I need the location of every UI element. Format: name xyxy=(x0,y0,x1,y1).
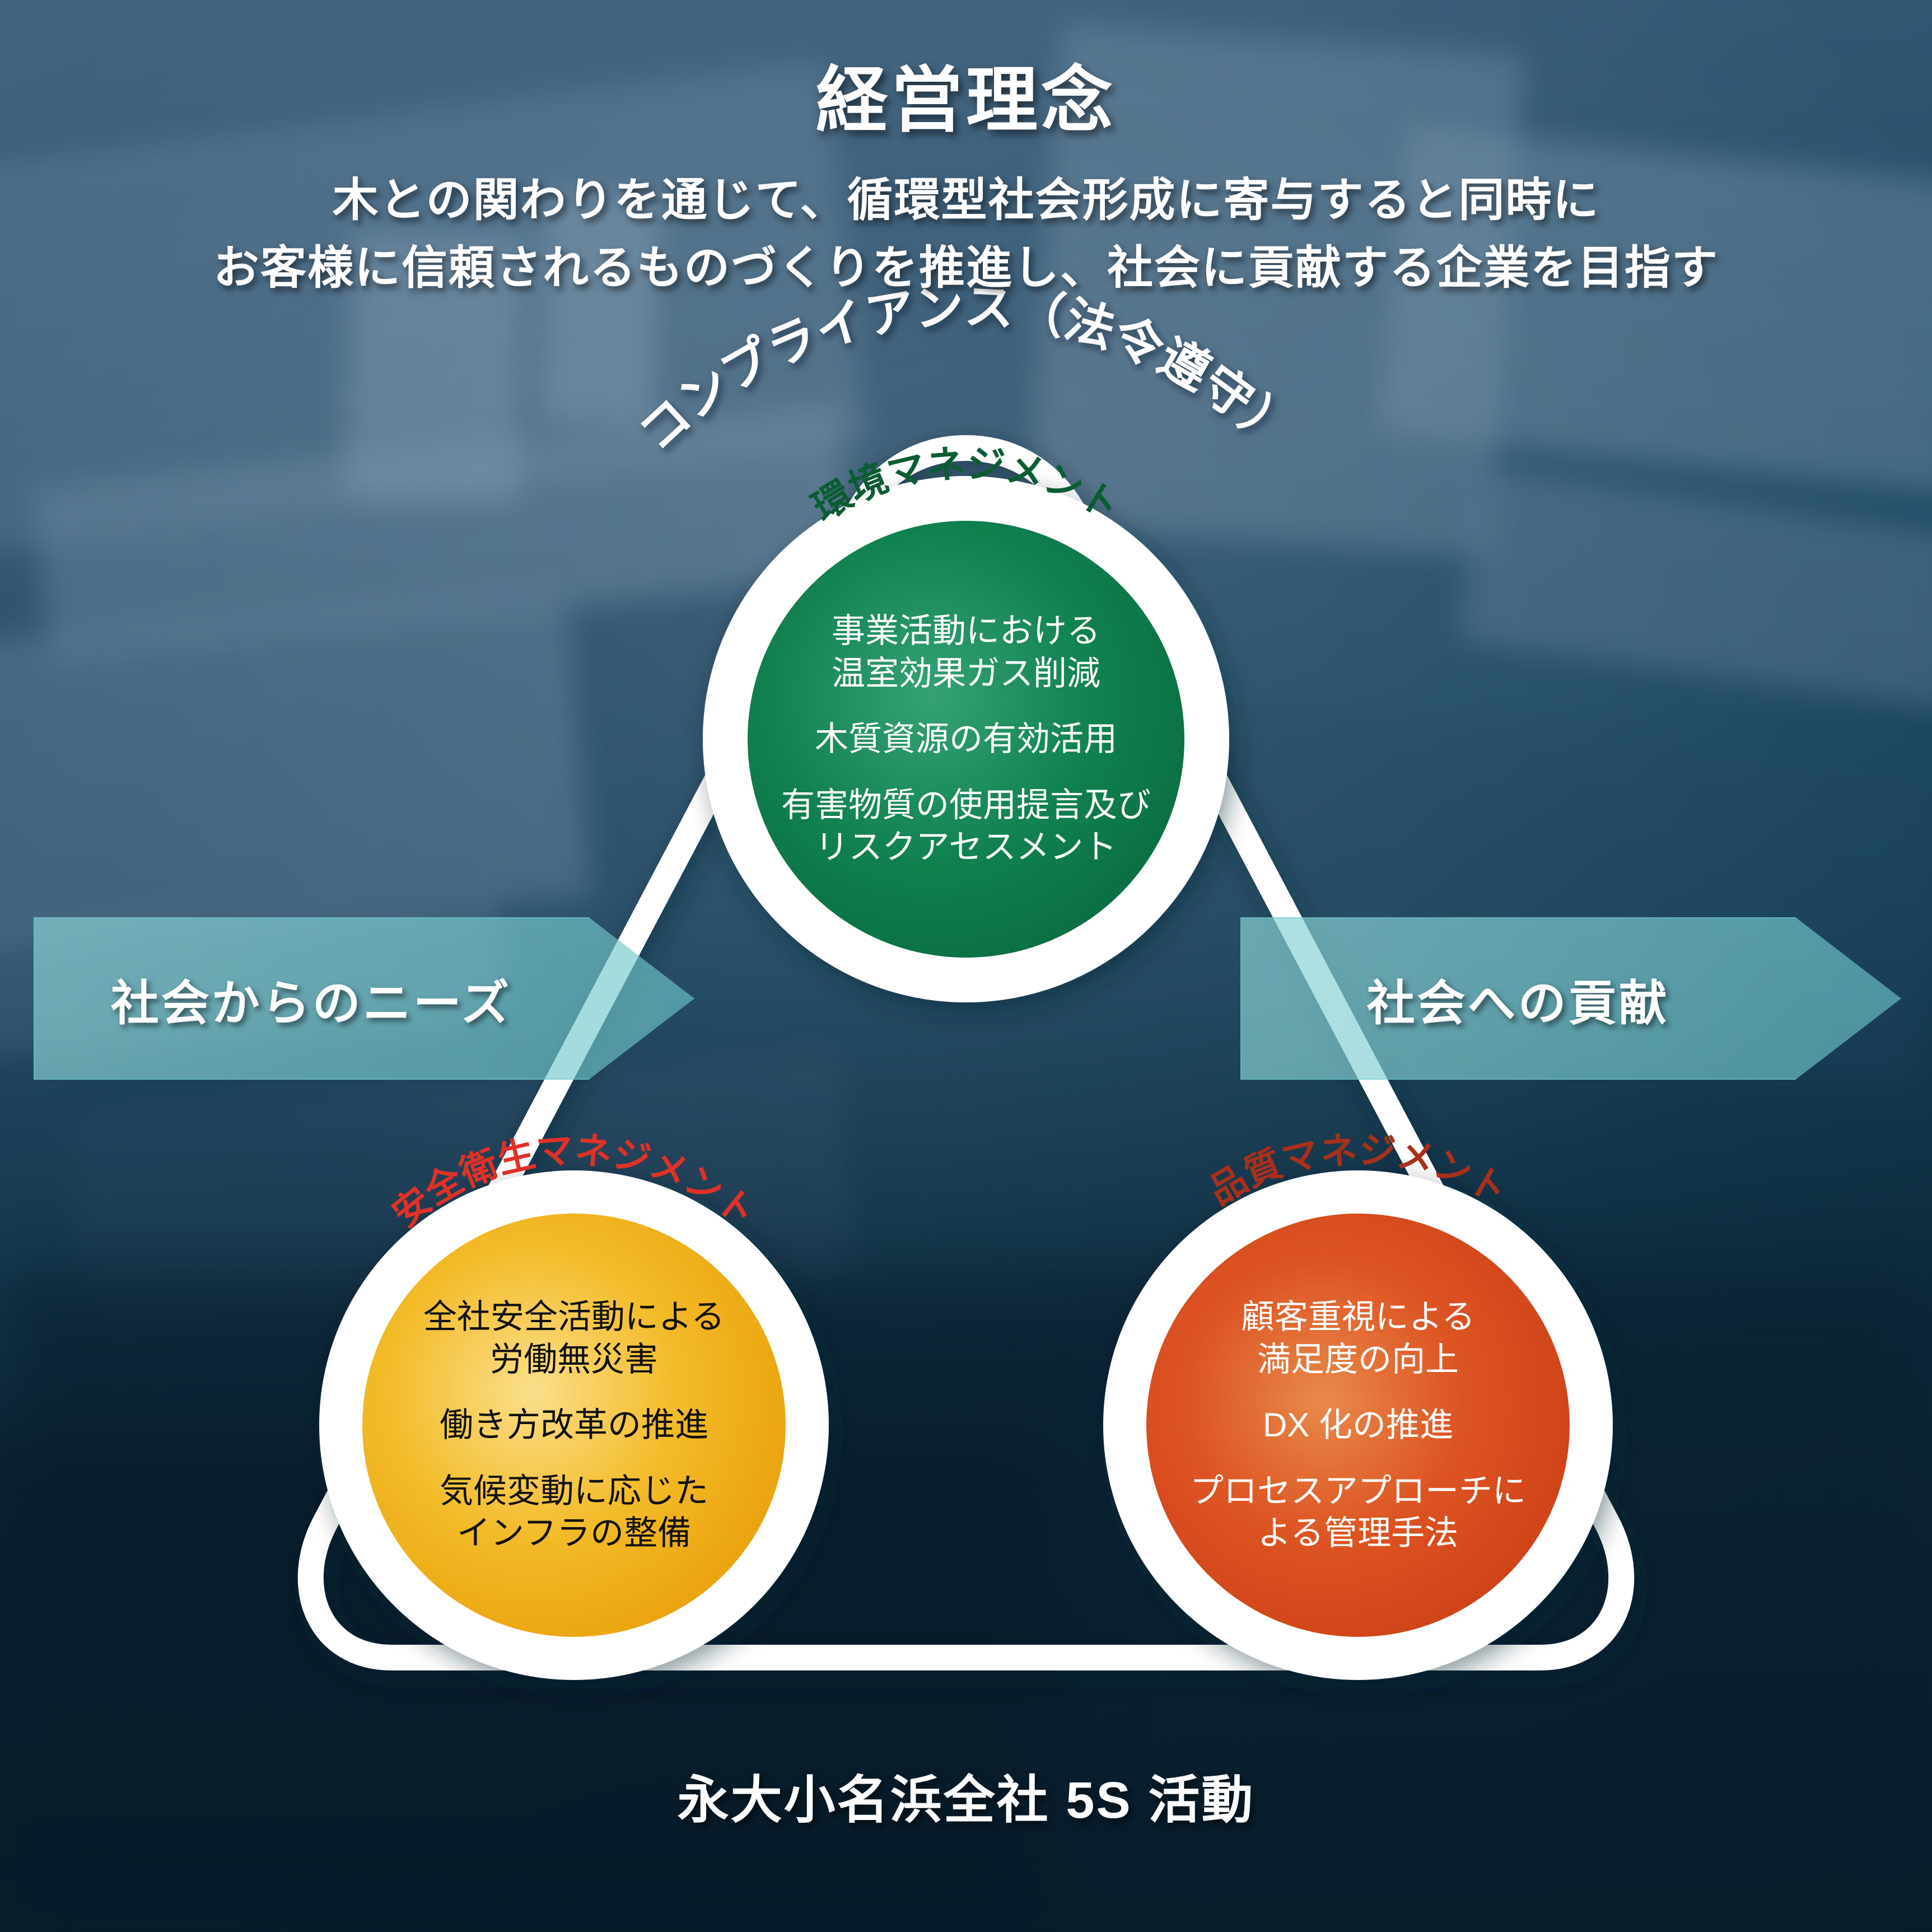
page-subtitle: 木との関わりを通じて、循環型社会形成に寄与すると同時に お客様に信頼されるものづ… xyxy=(0,166,1932,302)
header: 経営理念 木との関わりを通じて、循環型社会形成に寄与すると同時に お客様に信頼さ… xyxy=(0,62,1932,302)
page-title: 経営理念 xyxy=(0,62,1932,141)
circle-text-environment: 事業活動における温室効果ガス削減木質資源の有効活用有害物質の使用提言及びリスクア… xyxy=(770,610,1162,869)
subtitle-line-2: お客様に信頼されるものづくりを推進し、社会に貢献する企業を目指す xyxy=(0,234,1932,302)
subtitle-line-1: 木との関わりを通じて、循環型社会形成に寄与すると同時に xyxy=(0,166,1932,234)
circle-line: 全社安全活動による労働無災害 xyxy=(389,1296,759,1380)
circle-line: 顧客重視による満足度の向上 xyxy=(1168,1296,1548,1380)
circle-line: DX 化の推進 xyxy=(1168,1404,1548,1446)
banner-social-needs: 社会からのニーズ xyxy=(34,917,694,1080)
banner-social-contribution: 社会への貢献 xyxy=(1240,917,1901,1080)
banner-right-label: 社会への貢献 xyxy=(1240,964,1795,1034)
apex-label: コンプライアンス（法令遵守） xyxy=(628,278,1304,462)
bottom-caption: 永大小名浜全社 5S 活動 xyxy=(0,1758,1932,1833)
circle-line: 働き方改革の推進 xyxy=(389,1404,759,1446)
circle-text-safety-hygiene: 全社安全活動による労働無災害働き方改革の推進気候変動に応じたインフラの整備 xyxy=(389,1296,759,1555)
circle-line: 気候変動に応じたインフラの整備 xyxy=(389,1470,759,1555)
circle-text-quality: 顧客重視による満足度の向上DX 化の推進プロセスアプローチによる管理手法 xyxy=(1168,1296,1548,1555)
circle-line: 事業活動における温室効果ガス削減 xyxy=(770,610,1162,694)
circle-line: プロセスアプローチによる管理手法 xyxy=(1168,1470,1548,1555)
banner-left-label: 社会からのニーズ xyxy=(34,964,589,1034)
circle-line: 有害物質の使用提言及びリスクアセスメント xyxy=(770,784,1162,869)
circle-line: 木質資源の有効活用 xyxy=(770,718,1162,760)
management-philosophy-infographic: 経営理念 木との関わりを通じて、循環型社会形成に寄与すると同時に お客様に信頼さ… xyxy=(0,0,1932,1932)
